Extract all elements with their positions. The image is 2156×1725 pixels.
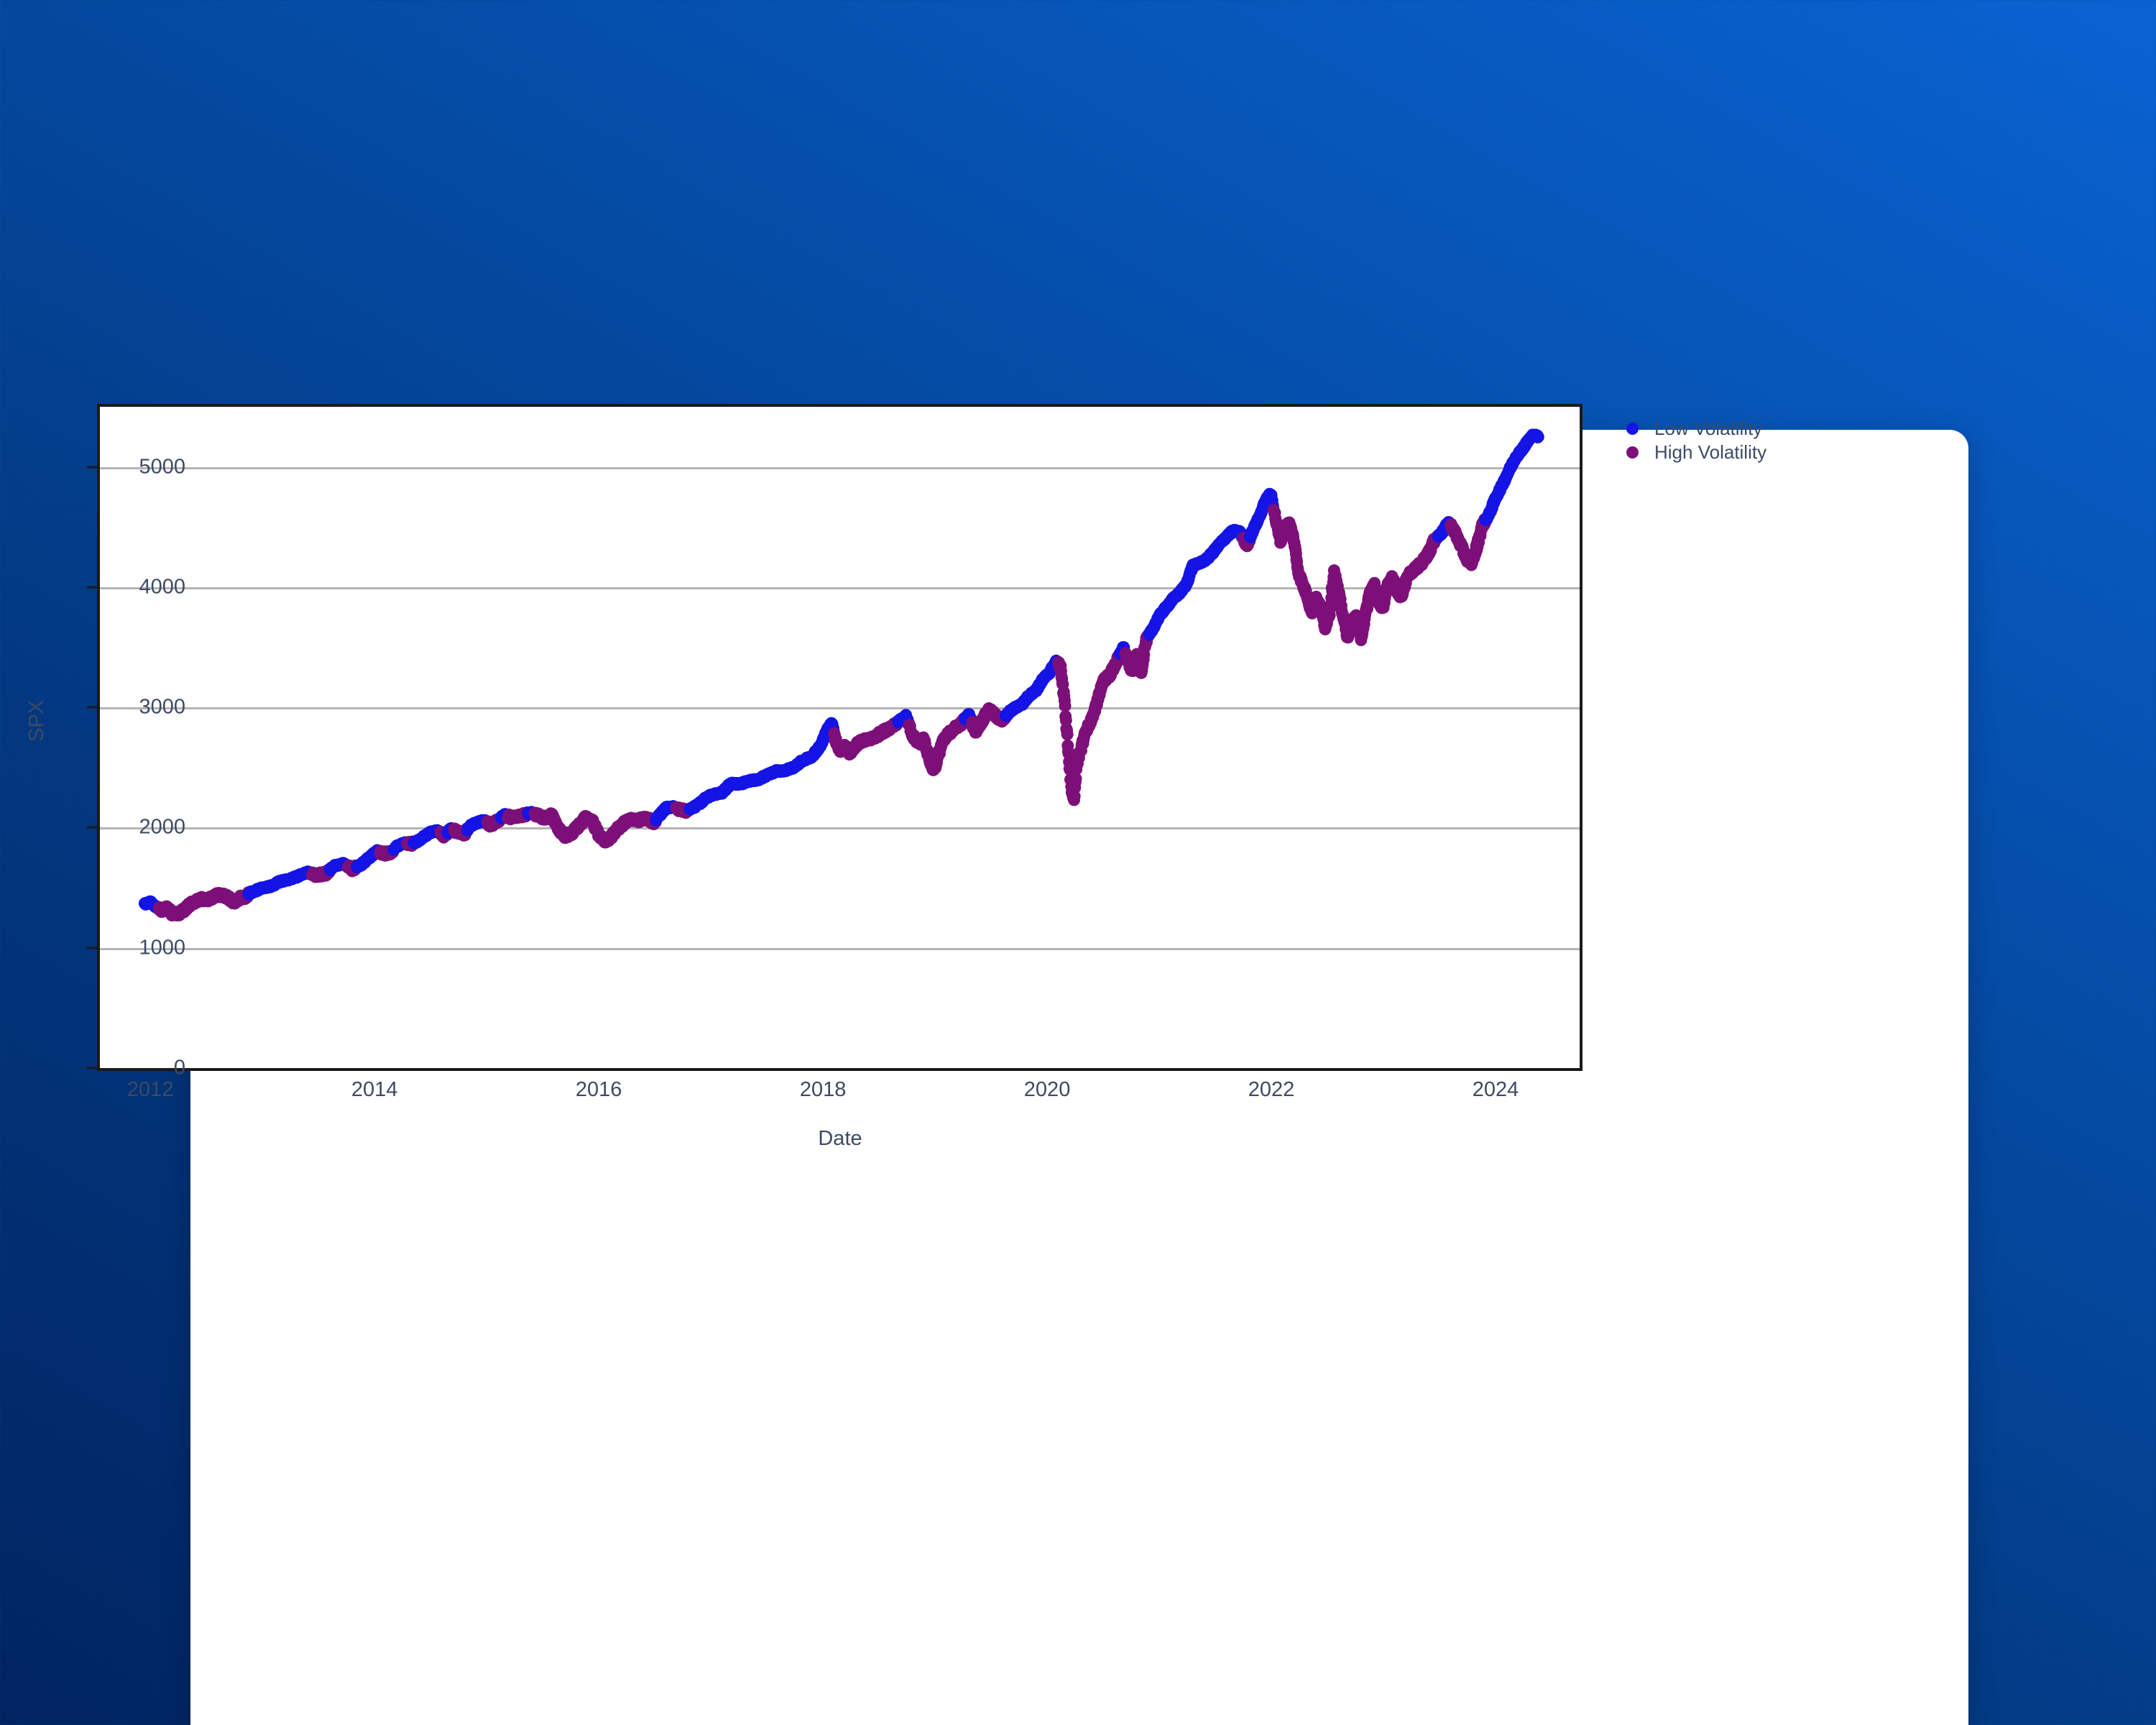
x-tick-label: 2020 — [1024, 1078, 1071, 1102]
y-tick-mark — [87, 947, 97, 949]
y-tick-mark — [87, 827, 97, 829]
y-tick-mark — [87, 466, 97, 468]
x-tick-label: 2024 — [1473, 1078, 1519, 1102]
chart-legend: Low VolatilityHigh Volatility — [1626, 417, 1813, 464]
x-tick-label: 2014 — [351, 1078, 398, 1102]
plot-area — [97, 404, 1583, 1071]
y-tick-mark — [87, 586, 97, 588]
y-tick-label: 0 — [174, 1057, 185, 1080]
screen-root: VOL Shift Model SPX Date 010002000300040… — [0, 0, 2156, 1725]
legend-label: Low Volatility — [1654, 418, 1762, 440]
legend-marker-icon — [1626, 446, 1639, 459]
legend-label: High Volatility — [1654, 441, 1766, 464]
y-axis-label: SPX — [25, 700, 49, 742]
y-tick-mark — [87, 1067, 97, 1069]
x-tick-label: 2016 — [576, 1078, 622, 1102]
y-tick-mark — [87, 707, 97, 709]
y-tick-label: 3000 — [139, 696, 185, 719]
y-tick-label: 4000 — [139, 575, 185, 599]
y-tick-label: 1000 — [139, 936, 185, 960]
legend-item[interactable]: High Volatility — [1626, 441, 1813, 464]
legend-marker-icon — [1626, 423, 1639, 435]
x-axis-label: Date — [818, 1127, 862, 1151]
chart-figure: SPX Date 010002000300040005000 201220142… — [0, 0, 1966, 1295]
y-tick-label: 5000 — [139, 455, 185, 479]
x-tick-label: 2018 — [800, 1078, 847, 1102]
x-tick-label: 2022 — [1248, 1078, 1295, 1102]
y-tick-label: 2000 — [139, 816, 185, 839]
legend-item[interactable]: Low Volatility — [1626, 417, 1813, 441]
x-tick-label: 2012 — [127, 1078, 174, 1102]
scatter-plot — [100, 407, 1580, 1068]
